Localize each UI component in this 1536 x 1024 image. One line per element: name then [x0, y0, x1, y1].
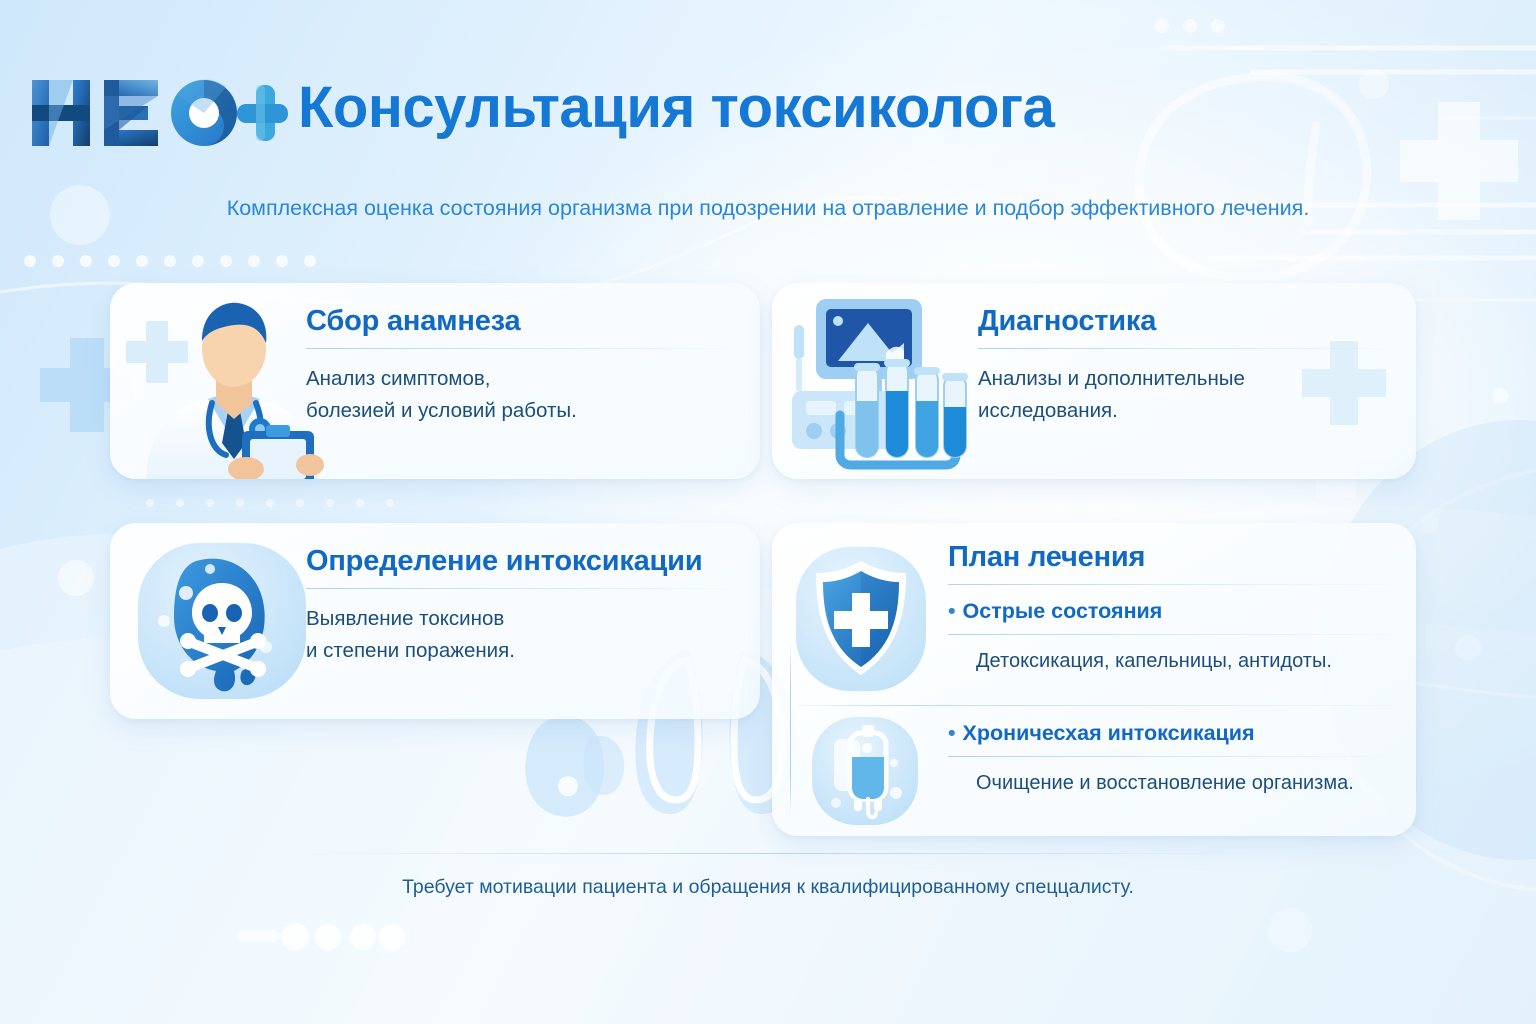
plan-row-chronic[interactable]: •Хроничесхая интоксикация Очищение и вос… — [948, 721, 1394, 795]
card-title-diagnostics: Диагностика — [978, 305, 1394, 338]
plan-text-acute: Детоксикация, капельницы, антидоты. — [976, 650, 1394, 673]
bullet-icon: • — [948, 599, 956, 623]
kidney-icon — [525, 716, 624, 817]
desc-line: болезией и условий работы. — [306, 395, 738, 427]
desc-line: Анализы и дополнительные — [978, 363, 1394, 395]
logo-letter-o — [171, 79, 237, 146]
card-divider — [978, 348, 1394, 349]
card-divider — [306, 348, 738, 349]
decor-circle — [1421, 515, 1439, 533]
plan-label-chronic: •Хроничесхая интоксикация — [948, 721, 1394, 746]
logo-letter-n — [32, 80, 90, 146]
desc-line: и степени поражения. — [306, 635, 738, 667]
card-description-intoxication: Выявление токсинов и степени поражения. — [306, 603, 738, 667]
plan-section-divider — [798, 705, 1398, 706]
logo-plus-icon — [237, 85, 288, 141]
card-divider — [306, 588, 738, 589]
bullet-icon: • — [948, 721, 956, 745]
card-description-diagnostics: Анализы и дополнительные исследования. — [978, 363, 1394, 427]
iv-drip-icon — [810, 715, 920, 827]
brand-logo[interactable] — [26, 72, 288, 154]
page-header: Консультация токсиколога Комплексная оце… — [0, 0, 1536, 245]
decor-circle — [1455, 635, 1481, 661]
decor-circle — [1268, 908, 1312, 952]
dot-row — [24, 255, 316, 267]
card-diagnostics[interactable]: Диагностика Анализы и дополнительные исс… — [772, 283, 1416, 479]
page-subtitle: Комплексная оценка состояния организма п… — [0, 196, 1536, 221]
card-title-anamnesis: Сбор анамнеза — [306, 305, 738, 338]
card-anamnesis[interactable]: Сбор анамнеза Анализ симптомов, болезией… — [110, 283, 760, 479]
shield-cross-icon — [794, 545, 928, 693]
dot-row — [281, 923, 405, 951]
plan-text-chronic: Очищение и восстановление организма. — [976, 772, 1394, 795]
footer-divider — [286, 853, 1250, 854]
desc-line: исследования. — [978, 395, 1394, 427]
dot-row-dash — [236, 930, 280, 942]
plan-row-acute[interactable]: •Острые состояния Детоксикация, капельни… — [948, 599, 1394, 673]
decor-circle — [1492, 388, 1508, 404]
card-title-intoxication: Определение интоксикации — [306, 545, 738, 578]
page-title: Консультация токсиколога — [298, 74, 1054, 141]
plan-label-acute: •Острые состояния — [948, 599, 1394, 624]
plan-divider — [948, 634, 1394, 635]
card-divider — [948, 584, 1394, 585]
plan-divider — [948, 756, 1394, 757]
footer-note: Требует мотивации пациента и обращения к… — [0, 876, 1536, 899]
infographic-poster: Консультация токсиколога Комплексная оце… — [0, 0, 1536, 1024]
dot-row — [146, 499, 394, 507]
plan-left-accent — [790, 641, 791, 817]
desc-line: Анализ симптомов, — [306, 363, 738, 395]
lab-equipment-icon — [782, 283, 982, 479]
card-intoxication[interactable]: Определение интоксикации Выявление токси… — [110, 523, 760, 719]
card-treatment[interactable]: План лечения — [772, 523, 1416, 836]
card-description-anamnesis: Анализ симптомов, болезией и условий раб… — [306, 363, 738, 427]
skull-crossbones-icon — [134, 539, 310, 703]
card-title-treatment: План лечения — [948, 541, 1394, 574]
decor-circle — [58, 560, 94, 596]
desc-line: Выявление токсинов — [306, 603, 738, 635]
logo-letter-e — [104, 80, 158, 146]
